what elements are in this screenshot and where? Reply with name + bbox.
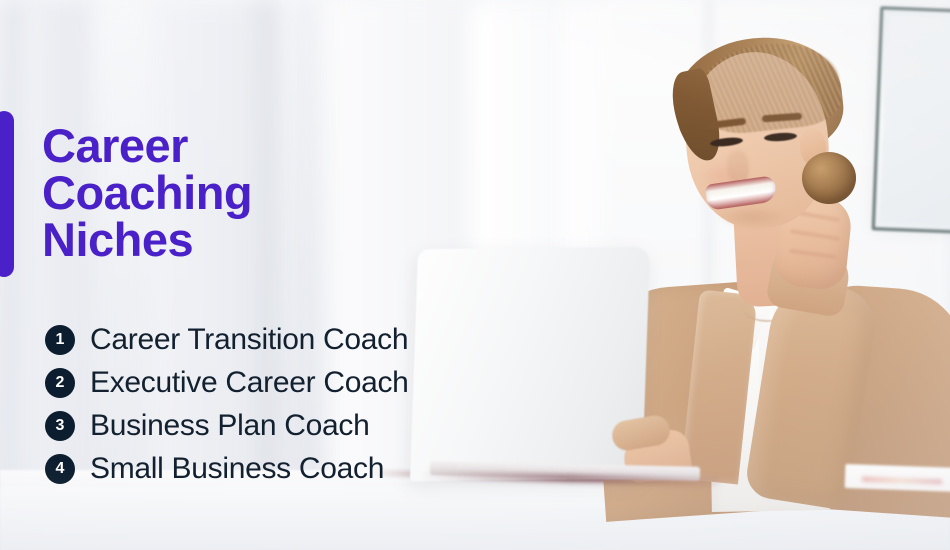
title-line-3: Niches [42,216,252,263]
title-line-2: Coaching [42,169,252,216]
list-item-label: Business Plan Coach [90,411,369,441]
infographic-banner: Career Coaching Niches 1 Career Transiti… [0,0,950,550]
list-item: 2 Executive Career Coach [45,361,409,404]
list-number-badge: 2 [45,368,75,398]
hair-bun [802,152,856,204]
list-number-badge: 3 [45,411,75,441]
list-item-label: Executive Career Coach [90,368,409,398]
niches-list: 1 Career Transition Coach 2 Executive Ca… [45,318,409,490]
page-title: Career Coaching Niches [42,122,252,263]
list-number-badge: 1 [45,325,75,355]
list-item-label: Career Transition Coach [90,325,408,355]
laptop-lid [410,247,650,481]
list-item: 3 Business Plan Coach [45,404,409,447]
list-item: 4 Small Business Coach [45,447,409,490]
list-item: 1 Career Transition Coach [45,318,409,361]
list-number-badge: 4 [45,454,75,484]
list-item-label: Small Business Coach [90,454,384,484]
chin-shadow [716,206,788,228]
purple-accent-bar [0,111,14,277]
title-line-1: Career [42,122,252,169]
